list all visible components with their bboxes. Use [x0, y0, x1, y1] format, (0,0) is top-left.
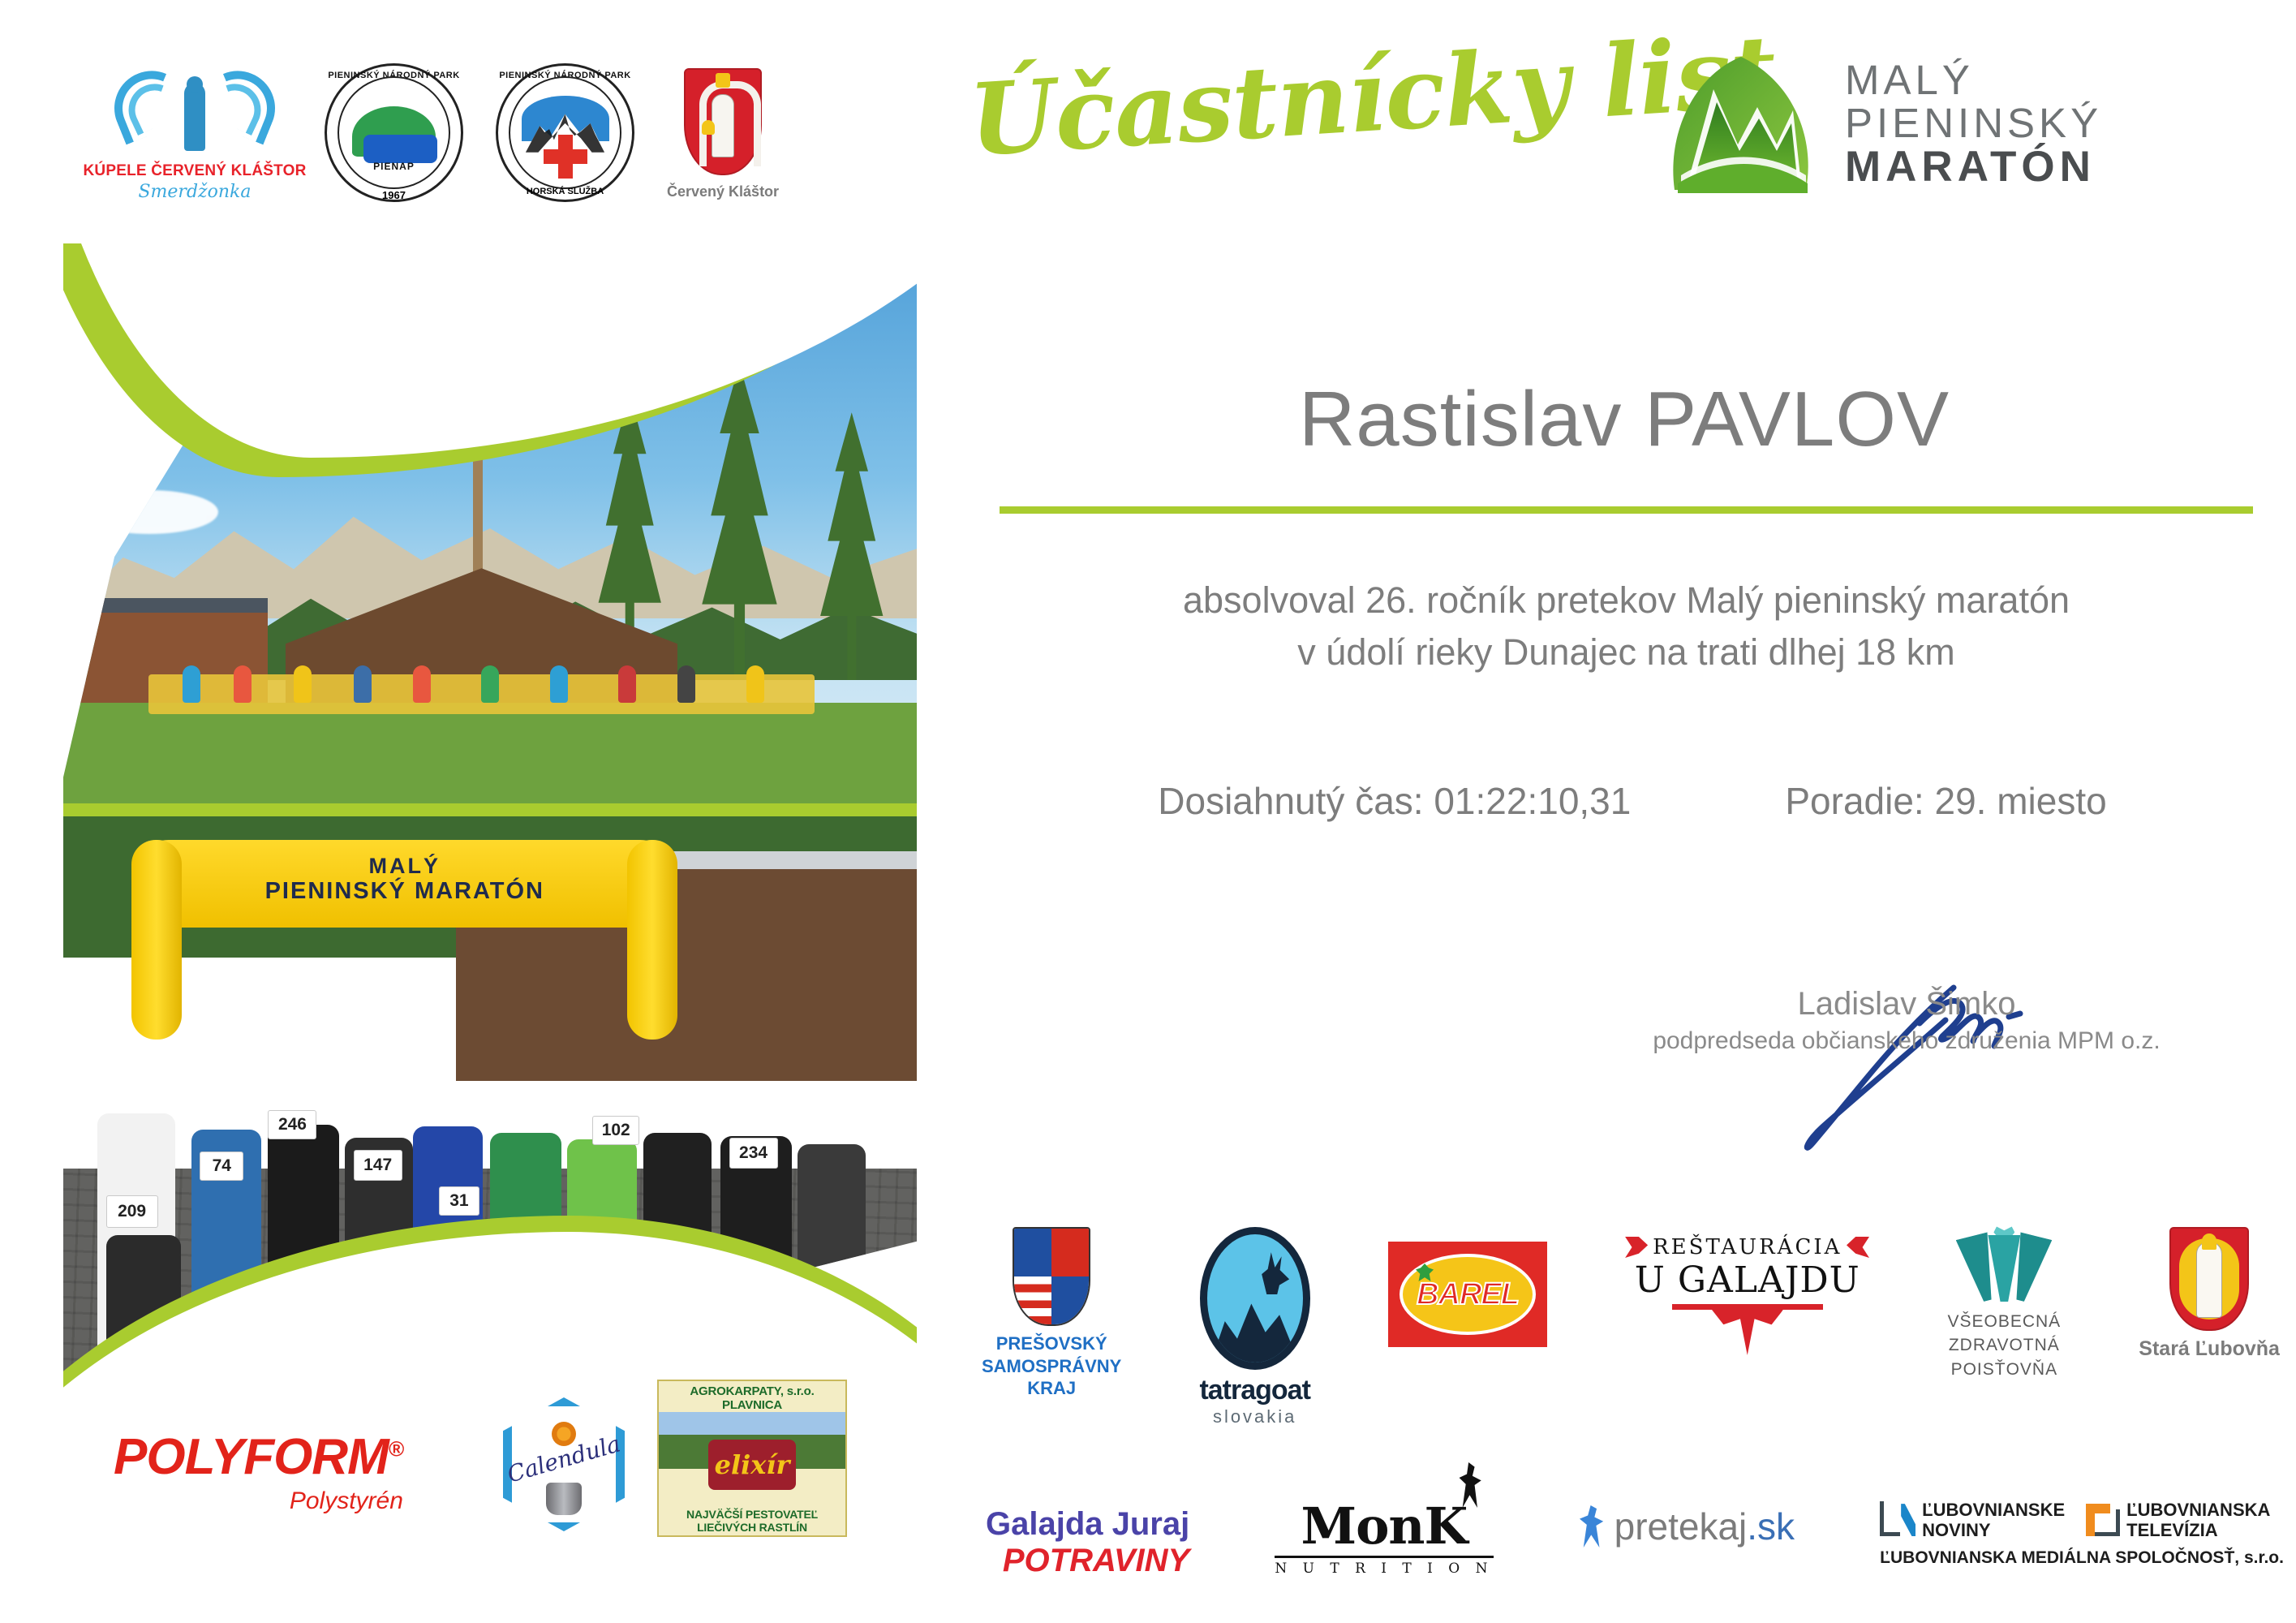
- agrokarpaty-line2: LIEČIVÝCH RASTLÍN: [659, 1521, 845, 1534]
- signature-role: podpredseda občianskeho združenia MPM o.…: [1582, 1027, 2231, 1055]
- signature-name: Ladislav Šimko: [1582, 986, 2231, 1022]
- logo-monk-nutrition: MonK N U T R I T I O N: [1275, 1496, 1493, 1577]
- logo-horska-sluzba: PIENINSKÝ NÁRODNÝ PARK HORSKÁ SLUŽBA: [496, 63, 634, 202]
- barel-icon: BAREL: [1388, 1242, 1547, 1347]
- pienap-inner-label: PIENAP: [339, 161, 449, 172]
- bib-number: 246: [268, 1110, 316, 1139]
- agrokarpaty-title: AGROKARPATY, s.r.o. PLAVNICA: [659, 1384, 845, 1412]
- pretekaj-name: pretekaj: [1615, 1505, 1748, 1548]
- elixir-badge: elixír: [708, 1440, 796, 1490]
- lt-line1: ĽUBOVNIANSKA: [2126, 1500, 2270, 1520]
- ln-monogram-icon: [1880, 1504, 1915, 1536]
- polyform-name: POLYFORM: [114, 1429, 389, 1485]
- logo-pienap: PIENINSKÝ NÁRODNÝ PARK PIENINSKÝ NÁRODNÝ…: [325, 63, 463, 202]
- lms-footer-label: ĽUBOVNIANSKA MEDIÁLNA SPOLOČNOSŤ, s.r.o.: [1880, 1548, 2284, 1568]
- logo-lubovnianska-medialna-spolocnost: ĽUBOVNIANSKE NOVINY ĽUBOVNIANSKA TELEVÍZ…: [1880, 1500, 2284, 1568]
- logo-lubovnianske-noviny: ĽUBOVNIANSKE NOVINY: [1880, 1500, 2065, 1540]
- cerveny-klastor-label: Červený Kláštor: [667, 183, 779, 200]
- polyform-tagline: Polystyrén: [114, 1487, 403, 1515]
- barel-wordmark: BAREL: [1417, 1277, 1519, 1312]
- logo-kck-line1: KÚPELE ČERVENÝ KLÁŠTOR: [83, 162, 306, 180]
- psk-shield-icon: [1013, 1227, 1090, 1326]
- mortar-and-pestle-icon: [546, 1483, 582, 1515]
- polyform-registered-icon: ®: [389, 1436, 403, 1461]
- logo-tatragoat: tatragoat slovakia: [1199, 1227, 1309, 1427]
- logo-u-galajdu: REŠTAURÁCIA U GALAJDU: [1625, 1235, 1869, 1355]
- cerveny-klastor-shield-icon: [684, 68, 762, 175]
- monk-sub: N U T R I T I O N: [1275, 1556, 1493, 1577]
- description-line-1: absolvoval 26. ročník pretekov Malý pien…: [1000, 575, 2253, 626]
- result-row: Dosiahnutý čas: 01:22:10,31 Poradie: 29.…: [1000, 779, 2265, 823]
- tatragoat-wordmark: tatragoat: [1199, 1375, 1309, 1406]
- pienap-year: 1967: [327, 189, 461, 201]
- vzp-icon: [1962, 1227, 2046, 1302]
- pretekaj-wordmark: pretekaj.sk: [1615, 1505, 1795, 1548]
- vzp-label: VŠEOBECNÁ ZDRAVOTNÁ POISŤOVŇA: [1947, 1310, 2061, 1381]
- stara-lubovna-shield-icon: [2169, 1227, 2249, 1331]
- finish-time-label: Dosiahnutý čas:: [1158, 780, 1423, 822]
- photo-divider: [63, 803, 917, 816]
- psk-label: PREŠOVSKÝ SAMOSPRÁVNY KRAJ: [982, 1332, 1121, 1400]
- partner-logos-row: KÚPELE ČERVENÝ KLÁŠTOR Smerdžonka PIENIN…: [97, 57, 909, 243]
- monk-wordmark: MonK: [1275, 1496, 1493, 1556]
- arch-text-line1: MALÝ: [131, 854, 677, 878]
- horska-sluzba-label: HORSKÁ SLUŽBA: [498, 187, 632, 196]
- logo-polyform: POLYFORM® Polystyrén: [114, 1428, 403, 1515]
- galajdu-wordmark: U GALAJDU: [1635, 1259, 1860, 1301]
- maraton-brand-logo: MALÝ PIENINSKÝ MARATÓN: [1663, 47, 2247, 201]
- ln-label: ĽUBOVNIANSKE NOVINY: [1922, 1500, 2065, 1540]
- placement-label: Poradie:: [1785, 780, 1924, 822]
- galajda-line1: Galajda Juraj: [986, 1506, 1189, 1543]
- page-title: Účastnícky list: [966, 18, 1686, 178]
- logo-galajda-juraj: Galajda Juraj POTRAVINY: [986, 1506, 1189, 1579]
- participant-name: Rastislav PAVLOV: [1000, 375, 2249, 464]
- folk-ornament-icon: [1847, 1237, 1869, 1258]
- start-arch: MALÝ PIENINSKÝ MARATÓN: [131, 840, 677, 1040]
- certificate-description: absolvoval 26. ročník pretekov Malý pien…: [1000, 575, 2253, 678]
- galajdu-top-label: REŠTAURÁCIA: [1653, 1235, 1842, 1259]
- folk-pattern-icon: [1712, 1310, 1783, 1355]
- bib-number: 102: [592, 1116, 639, 1145]
- media-partners-row: Galajda Juraj POTRAVINY MonK N U T R I T…: [986, 1485, 2284, 1607]
- brand-line-2: PIENINSKÝ: [1845, 101, 2102, 144]
- logo-barel: BAREL: [1388, 1242, 1547, 1347]
- logo-cerveny-klastor: Červený Kláštor: [667, 68, 779, 200]
- brand-line-3: MARATÓN: [1845, 144, 2102, 189]
- finish-time: Dosiahnutý čas: 01:22:10,31: [1158, 779, 1631, 823]
- description-line-2: v údolí rieky Dunajec na trati dlhej 18 …: [1000, 626, 2253, 678]
- placement-value: 29. miesto: [1934, 780, 2106, 822]
- angel-fountain-icon: [97, 57, 292, 162]
- lt-line2: TELEVÍZIA: [2126, 1520, 2217, 1540]
- stara-lubovna-label: Stará Ľubovňa: [2139, 1337, 2280, 1361]
- placement: Poradie: 29. miesto: [1785, 779, 2106, 823]
- polyform-wordmark: POLYFORM®: [114, 1428, 403, 1486]
- pretekaj-domain: .sk: [1747, 1505, 1795, 1548]
- event-photo-panel: MALÝ PIENINSKÝ MARATÓN 209 74 246: [63, 243, 917, 1404]
- ln-line2: NOVINY: [1922, 1520, 1990, 1540]
- elixir-wordmark: elixír: [715, 1449, 790, 1480]
- logo-presovsky-samospravny-kraj: PREŠOVSKÝ SAMOSPRÁVNY KRAJ: [982, 1227, 1121, 1400]
- logo-lubovnianska-televizia: ĽUBOVNIANSKA TELEVÍZIA: [2086, 1500, 2270, 1540]
- runner-icon: [1579, 1505, 1606, 1548]
- logo-calendula: Calendula: [503, 1397, 625, 1531]
- pienap-seal-icon: PIENINSKÝ NÁRODNÝ PARK PIENINSKÝ NÁRODNÝ…: [325, 63, 463, 202]
- bib-number: 147: [354, 1150, 402, 1181]
- agrokarpaty-line1: NAJVÄČŠÍ PESTOVATEĽ: [659, 1508, 845, 1521]
- lt-label: ĽUBOVNIANSKA TELEVÍZIA: [2126, 1500, 2270, 1540]
- logo-agrokarpaty-elixir: AGROKARPATY, s.r.o. PLAVNICA elixír NAJV…: [657, 1380, 847, 1537]
- bib-number: 234: [729, 1138, 778, 1169]
- finish-time-value: 01:22:10,31: [1434, 780, 1631, 822]
- bib-number: 31: [439, 1186, 479, 1216]
- lt-monogram-icon: [2086, 1504, 2120, 1536]
- logo-pretekaj-sk[interactable]: pretekaj.sk: [1579, 1505, 1795, 1548]
- bib-number: 74: [200, 1152, 243, 1181]
- brand-line-1: MALÝ: [1845, 58, 2102, 101]
- mountain-leaf-icon: [1663, 54, 1817, 196]
- logo-kck-line2: Smerdžonka: [138, 182, 251, 202]
- ln-line1: ĽUBOVNIANSKE: [1922, 1500, 2065, 1520]
- signature-block: Ladislav Šimko podpredseda občianskeho z…: [1582, 986, 2231, 1055]
- tatragoat-sub: slovakia: [1213, 1406, 1296, 1427]
- logo-vseobecna-zdravotna-poistovna: VŠEOBECNÁ ZDRAVOTNÁ POISŤOVŇA: [1947, 1227, 2061, 1381]
- galajda-line2: POTRAVINY: [986, 1543, 1189, 1579]
- sponsor-logos-row: PREŠOVSKÝ SAMOSPRÁVNY KRAJ tatragoat slo…: [982, 1227, 2280, 1470]
- arch-text-line2: PIENINSKÝ MARATÓN: [131, 878, 677, 904]
- folk-ornament-icon: [1625, 1237, 1648, 1258]
- logo-kupele-cerveny-klastor: KÚPELE ČERVENÝ KLÁŠTOR Smerdžonka: [97, 57, 292, 202]
- bib-number: 209: [106, 1195, 158, 1228]
- horska-sluzba-seal-icon: PIENINSKÝ NÁRODNÝ PARK HORSKÁ SLUŽBA: [496, 63, 634, 202]
- certificate-page: KÚPELE ČERVENÝ KLÁŠTOR Smerdžonka PIENIN…: [0, 0, 2296, 1623]
- title-divider-rule: [1000, 506, 2253, 514]
- tatragoat-icon: [1200, 1227, 1310, 1370]
- logo-stara-lubovna: Stará Ľubovňa: [2139, 1227, 2280, 1361]
